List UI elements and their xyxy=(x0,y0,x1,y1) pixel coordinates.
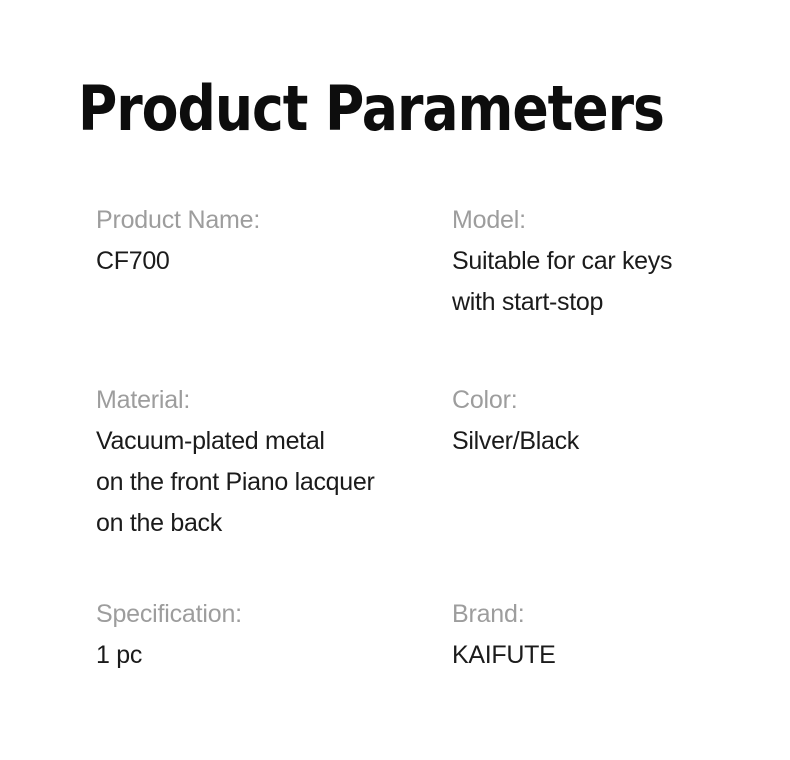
spec-value-line: CF700 xyxy=(96,241,452,282)
spec-cell-product-name: Product Name: CF700 xyxy=(96,200,452,282)
spec-value-line: Silver/Black xyxy=(452,421,736,462)
spec-cell-material: Material: Vacuum-plated metal on the fro… xyxy=(96,380,452,544)
product-parameters-page: Product Parameters Product Name: CF700 M… xyxy=(0,0,790,760)
spec-value-line: 1 pc xyxy=(96,635,452,676)
spec-label: Specification: xyxy=(96,594,452,635)
spec-value-line: KAIFUTE xyxy=(452,635,736,676)
spec-label: Model: xyxy=(452,200,736,241)
spec-value: CF700 xyxy=(96,241,452,282)
spec-value-line: on the front Piano lacquer xyxy=(96,462,452,503)
spec-value: Suitable for car keys with start-stop xyxy=(452,241,736,323)
spec-row: Specification: 1 pc Brand: KAIFUTE xyxy=(96,594,736,714)
spec-cell-brand: Brand: KAIFUTE xyxy=(452,594,736,676)
spec-cell-model: Model: Suitable for car keys with start-… xyxy=(452,200,736,323)
page-title: Product Parameters xyxy=(78,73,664,145)
spec-label: Material: xyxy=(96,380,452,421)
spec-value-line: on the back xyxy=(96,503,452,544)
spec-value-line: Suitable for car keys xyxy=(452,241,736,282)
spec-value: 1 pc xyxy=(96,635,452,676)
spec-cell-specification: Specification: 1 pc xyxy=(96,594,452,676)
spec-value: KAIFUTE xyxy=(452,635,736,676)
spec-label: Color: xyxy=(452,380,736,421)
spec-label: Brand: xyxy=(452,594,736,635)
spec-cell-color: Color: Silver/Black xyxy=(452,380,736,462)
spec-row: Material: Vacuum-plated metal on the fro… xyxy=(96,380,736,594)
spec-value-line: with start-stop xyxy=(452,282,736,323)
spec-value: Silver/Black xyxy=(452,421,736,462)
spec-grid: Product Name: CF700 Model: Suitable for … xyxy=(96,200,736,714)
spec-value: Vacuum-plated metal on the front Piano l… xyxy=(96,421,452,544)
spec-row: Product Name: CF700 Model: Suitable for … xyxy=(96,200,736,380)
spec-label: Product Name: xyxy=(96,200,452,241)
spec-value-line: Vacuum-plated metal xyxy=(96,421,452,462)
